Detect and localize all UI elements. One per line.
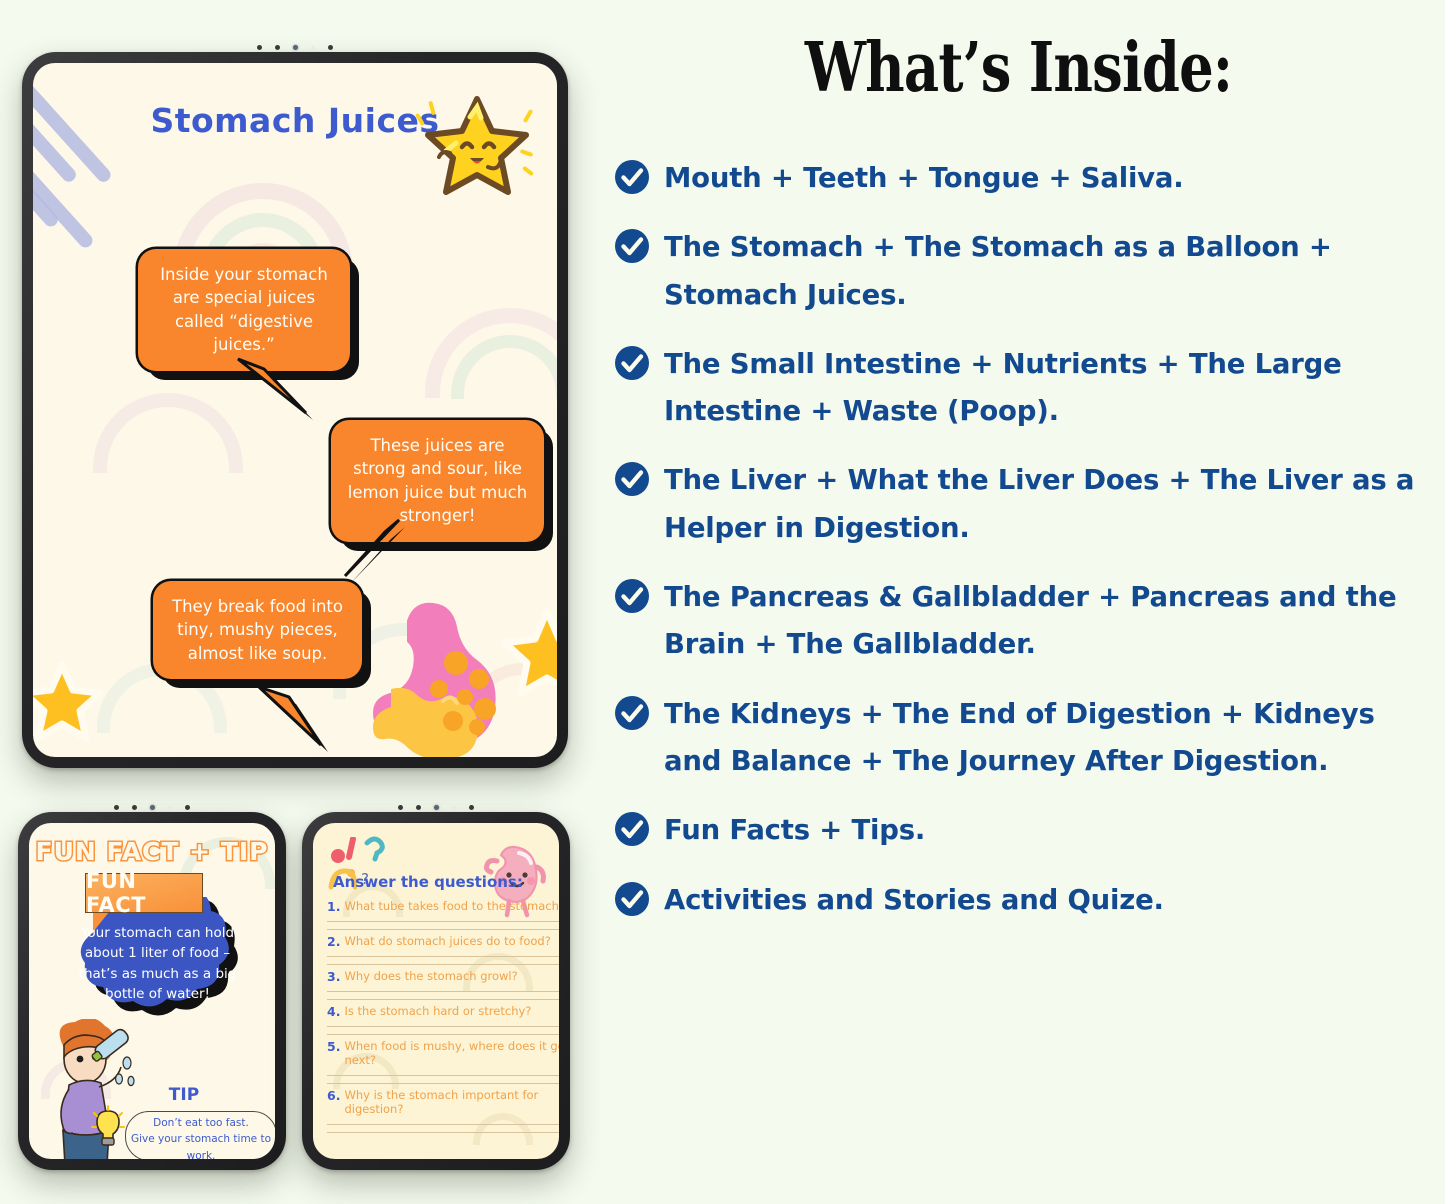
question-number: 6. — [327, 1088, 340, 1103]
confetti-dot — [331, 849, 345, 863]
tablet-funfact-screen: FUN FACT + TIP FUN FACT Your stomach can… — [29, 823, 275, 1159]
quiz-question-item: 1. What tube takes food to the stomach? — [327, 899, 559, 930]
funfact-text: Your stomach can hold about 1 liter of f… — [65, 923, 250, 1004]
sensor-dot — [275, 45, 280, 50]
camera-dot — [293, 45, 298, 50]
sensor-dot — [132, 805, 137, 810]
camera-dot — [150, 805, 155, 810]
whats-inside-checklist: Mouth + Teeth + Tongue + Saliva. The Sto… — [614, 155, 1439, 946]
speech-bubble-3-text: They break food into tiny, mushy pieces,… — [172, 597, 343, 663]
quiz-question-list: 1. What tube takes food to the stomach? … — [327, 899, 559, 1137]
tablet-main-screen: Stomach Juices — [33, 63, 557, 757]
whats-inside-column: What’s Inside: Mouth + Teeth + Tongue + … — [592, 0, 1445, 1204]
check-circle-icon — [614, 345, 650, 381]
lightbulb-icon — [91, 1105, 125, 1149]
sensor-dot — [398, 805, 403, 810]
sensor-dot — [168, 806, 172, 810]
question-number: 1. — [327, 899, 340, 914]
checklist-item-label: The Kidneys + The End of Digestion + Kid… — [664, 691, 1439, 786]
poster-root: Stomach Juices — [0, 0, 1445, 1204]
answer-line[interactable] — [327, 956, 559, 957]
answer-line[interactable] — [327, 1132, 559, 1133]
question-text: When food is mushy, where does it go nex… — [344, 1039, 559, 1068]
question-text: What tube takes food to the stomach? — [344, 899, 559, 913]
checklist-item-label: The Liver + What the Liver Does + The Li… — [664, 457, 1439, 552]
funfact-header: FUN FACT + TIP — [29, 837, 275, 866]
camera-dot — [434, 805, 439, 810]
check-circle-icon — [614, 811, 650, 847]
answer-line[interactable] — [327, 1034, 559, 1035]
checklist-item: The Pancreas & Gallbladder + Pancreas an… — [614, 574, 1439, 669]
tablet-sensor-dots — [302, 802, 570, 813]
checklist-item-label: Fun Facts + Tips. — [664, 807, 925, 854]
answer-line[interactable] — [327, 999, 559, 1000]
checklist-item: Fun Facts + Tips. — [614, 807, 1439, 854]
sensor-dot — [185, 805, 190, 810]
tablet-sensor-dots — [22, 42, 568, 53]
check-circle-icon — [614, 461, 650, 497]
sensor-dot — [311, 46, 315, 50]
sensor-dot — [257, 45, 262, 50]
answer-line[interactable] — [327, 964, 559, 965]
sensor-dot — [469, 805, 474, 810]
question-number: 3. — [327, 969, 340, 984]
question-text: Is the stomach hard or stretchy? — [344, 1004, 531, 1018]
tablet-quiz-preview[interactable]: ? — [302, 812, 570, 1170]
question-number: 2. — [327, 934, 340, 949]
tablet-mockups-column: Stomach Juices — [0, 0, 590, 1204]
question-number: 5. — [327, 1039, 340, 1054]
tablet-quiz-screen: ? — [313, 823, 559, 1159]
answer-line[interactable] — [327, 929, 559, 930]
check-circle-icon — [614, 695, 650, 731]
answer-line[interactable] — [327, 1026, 559, 1027]
checklist-item-label: The Pancreas & Gallbladder + Pancreas an… — [664, 574, 1439, 669]
checklist-item-label: The Stomach + The Stomach as a Balloon +… — [664, 224, 1439, 319]
checklist-item: The Kidneys + The End of Digestion + Kid… — [614, 691, 1439, 786]
question-number: 4. — [327, 1004, 340, 1019]
tablet-funfact-preview[interactable]: FUN FACT + TIP FUN FACT Your stomach can… — [18, 812, 286, 1170]
answer-line[interactable] — [327, 1075, 559, 1076]
decor-star-left — [33, 659, 105, 750]
checklist-item: Mouth + Teeth + Tongue + Saliva. — [614, 155, 1439, 202]
tip-title: TIP — [129, 1085, 239, 1105]
page-title: What’s Inside: — [677, 28, 1359, 108]
quiz-question-item: 4. Is the stomach hard or stretchy? — [327, 1004, 559, 1035]
sensor-dot — [114, 805, 119, 810]
check-circle-icon — [614, 578, 650, 614]
question-text: Why does the stomach growl? — [344, 969, 517, 983]
checklist-item: The Liver + What the Liver Does + The Li… — [614, 457, 1439, 552]
checklist-item: The Small Intestine + Nutrients + The La… — [614, 341, 1439, 436]
speech-bubble-1-text: Inside your stomach are special juices c… — [160, 265, 328, 354]
speech-bubble-1: Inside your stomach are special juices c… — [138, 249, 350, 371]
quiz-question-item: 2. What do stomach juices do to food? — [327, 934, 559, 965]
checklist-item-label: The Small Intestine + Nutrients + The La… — [664, 341, 1439, 436]
sensor-dot — [416, 805, 421, 810]
speech-bubble-3: They break food into tiny, mushy pieces,… — [153, 581, 362, 679]
check-circle-icon — [614, 881, 650, 917]
tip-text: Don’t eat too fast. Give your stomach ti… — [125, 1115, 275, 1159]
smiling-star-icon — [422, 91, 532, 195]
quiz-title: Answer the questions: — [333, 873, 523, 891]
speech-bubble-2-text: These juices are strong and sour, like l… — [348, 436, 527, 525]
checklist-item-label: Mouth + Teeth + Tongue + Saliva. — [664, 155, 1184, 202]
funfact-badge: FUN FACT — [85, 873, 203, 913]
tablet-sensor-dots — [18, 802, 286, 813]
question-text: What do stomach juices do to food? — [344, 934, 550, 948]
question-text: Why is the stomach important for digesti… — [344, 1088, 559, 1117]
decor-star-right — [499, 605, 557, 706]
check-circle-icon — [614, 228, 650, 264]
sensor-dot — [328, 45, 333, 50]
quiz-question-item: 3. Why does the stomach growl? — [327, 969, 559, 1000]
answer-line[interactable] — [327, 1124, 559, 1125]
checklist-item: Activities and Stories and Quize. — [614, 877, 1439, 924]
answer-line[interactable] — [327, 1083, 559, 1084]
check-circle-icon — [614, 159, 650, 195]
tablet-main-preview[interactable]: Stomach Juices — [22, 52, 568, 768]
checklist-item-label: Activities and Stories and Quize. — [664, 877, 1164, 924]
answer-line[interactable] — [327, 991, 559, 992]
quiz-question-item: 6. Why is the stomach important for dige… — [327, 1088, 559, 1133]
answer-line[interactable] — [327, 921, 559, 922]
sensor-dot — [452, 806, 456, 810]
speech-bubble-2: These juices are strong and sour, like l… — [331, 420, 544, 542]
quiz-question-item: 5. When food is mushy, where does it go … — [327, 1039, 559, 1084]
checklist-item: The Stomach + The Stomach as a Balloon +… — [614, 224, 1439, 319]
question-doodle — [361, 835, 389, 869]
